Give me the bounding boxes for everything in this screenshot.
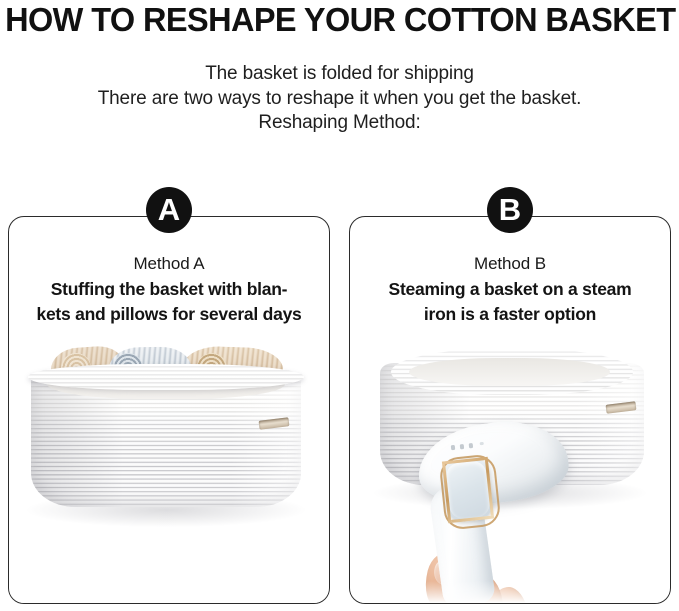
subtitle-line-1: The basket is folded for shipping xyxy=(0,62,679,87)
steamer-plate-button xyxy=(442,457,494,523)
basket-interior-b xyxy=(409,358,610,386)
subtitle-block: The basket is folded for shipping There … xyxy=(0,62,679,136)
method-b-description-line-2: iron is a faster option xyxy=(350,302,670,327)
method-a-description-line-2: kets and pillows for several days xyxy=(9,302,329,327)
subtitle-line-3: Reshaping Method: xyxy=(0,111,679,136)
basket-rim-a xyxy=(28,364,303,390)
cotton-rope-basket-a xyxy=(31,371,301,507)
handheld-steamer xyxy=(418,423,568,603)
method-b-heading: Method B xyxy=(350,253,670,275)
method-a-description: Stuffing the basket with blan- kets and … xyxy=(9,277,329,327)
page-title: HOW TO RESHAPE YOUR COTTON BASKET xyxy=(5,2,674,38)
method-b-description: Steaming a basket on a steam iron is a f… xyxy=(350,277,670,327)
photo-fade-a xyxy=(9,581,329,603)
method-a-heading: Method A xyxy=(9,253,329,275)
method-b-description-line-1: Steaming a basket on a steam xyxy=(350,277,670,302)
method-panel-b: B Method B Steaming a basket on a steam … xyxy=(349,216,671,604)
method-panel-a: A Method A Stuffing the basket with blan… xyxy=(8,216,330,604)
badge-b: B xyxy=(487,187,533,233)
method-a-photo xyxy=(9,335,329,603)
badge-a: A xyxy=(146,187,192,233)
subtitle-line-2: There are two ways to reshape it when yo… xyxy=(0,87,679,112)
method-b-photo xyxy=(350,335,670,603)
method-a-description-line-1: Stuffing the basket with blan- xyxy=(9,277,329,302)
